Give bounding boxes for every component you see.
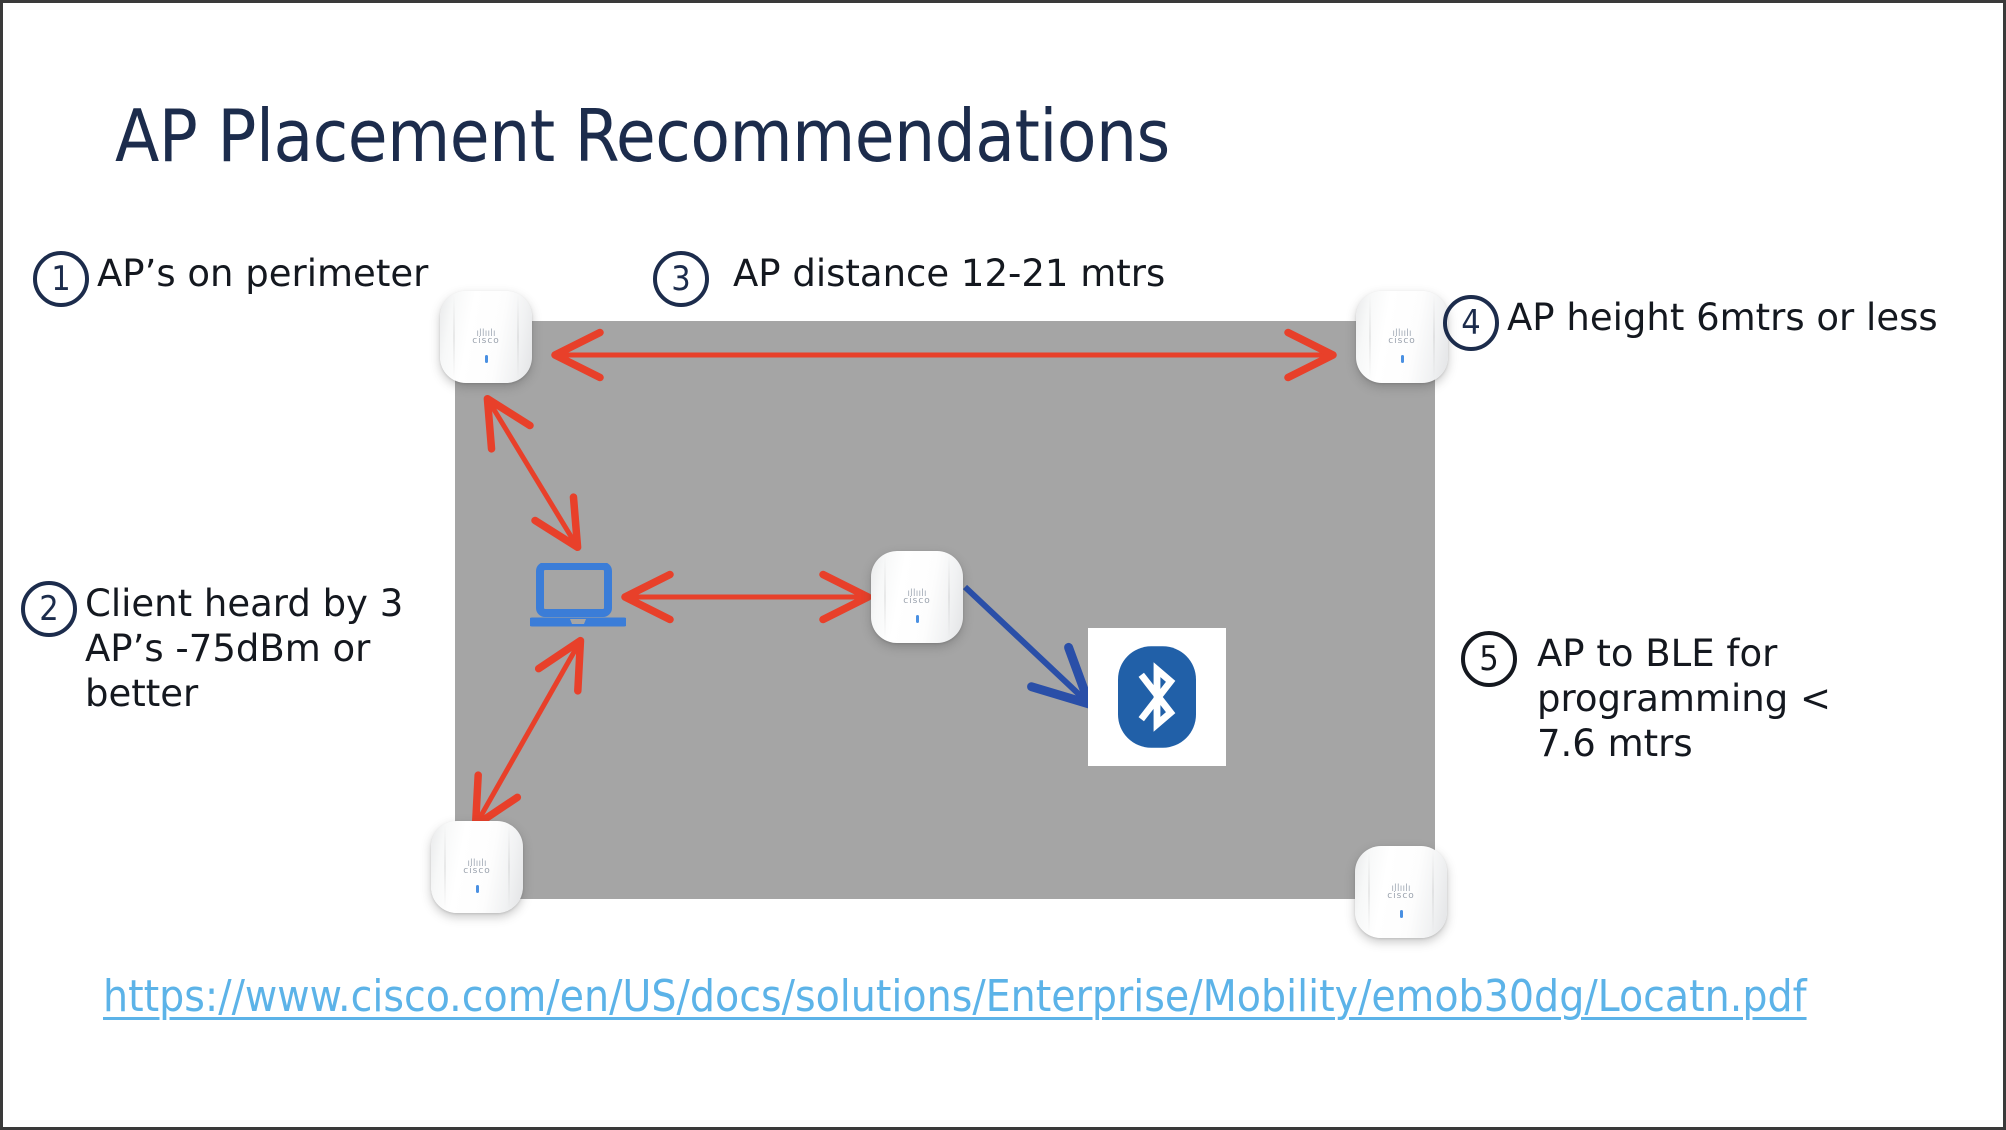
ap-status-led-icon (485, 355, 488, 363)
cisco-logo-icon: ıllıılı cisco (871, 591, 963, 607)
access-point-bottom-left[interactable]: ıllıılı cisco (431, 821, 523, 913)
callout-label-2: Client heard by 3 AP’s -75dBm or better (85, 581, 425, 716)
ap-chassis: ıllıılı cisco (1355, 846, 1447, 938)
ap-brand-label: cisco (472, 336, 500, 346)
callout-badge-3: 3 (653, 251, 709, 307)
ap-chassis: ıllıılı cisco (1356, 291, 1448, 383)
cisco-logo-icon: ıllıılı cisco (1355, 886, 1447, 902)
callout-badge-5: 5 (1461, 631, 1517, 687)
cisco-logo-icon: ıllıılı cisco (431, 861, 523, 877)
page-title: AP Placement Recommendations (115, 99, 1170, 175)
cisco-logo-icon: ıllıılı cisco (440, 331, 532, 347)
callout-label-4: AP height 6mtrs or less (1507, 295, 1938, 340)
ap-brand-label: cisco (463, 866, 491, 876)
ap-status-led-icon (1400, 910, 1403, 918)
callout-badge-2: 2 (21, 581, 77, 637)
bluetooth-icon (1118, 646, 1196, 748)
ble-beacon[interactable] (1088, 628, 1226, 766)
callout-label-3: AP distance 12-21 mtrs (733, 251, 1165, 296)
callout-badge-1: 1 (33, 251, 89, 307)
ap-chassis: ıllıılı cisco (431, 821, 523, 913)
laptop-client[interactable] (530, 563, 626, 631)
callout-4: 4 AP height 6mtrs or less (1443, 295, 1938, 351)
ap-status-led-icon (476, 885, 479, 893)
ap-chassis: ıllıılı cisco (440, 291, 532, 383)
access-point-top-right[interactable]: ıllıılı cisco (1356, 291, 1448, 383)
ap-status-led-icon (916, 615, 919, 623)
slide-canvas: AP Placement Recommendations (0, 0, 2006, 1130)
callout-1: 1 AP’s on perimeter (33, 251, 428, 307)
access-point-top-left[interactable]: ıllıılı cisco (440, 291, 532, 383)
ap-brand-label: cisco (1387, 891, 1415, 901)
laptop-icon (530, 563, 626, 631)
callout-2: 2 Client heard by 3 AP’s -75dBm or bette… (21, 581, 451, 716)
access-point-bottom-right[interactable]: ıllıılı cisco (1355, 846, 1447, 938)
callout-5: 5 AP to BLE for programming < 7.6 mtrs (1461, 631, 1881, 766)
ap-brand-label: cisco (903, 596, 931, 606)
ap-status-led-icon (1401, 355, 1404, 363)
callout-label-1: AP’s on perimeter (97, 251, 428, 296)
access-point-center[interactable]: ıllıılı cisco (871, 551, 963, 643)
cisco-logo-icon: ıllıılı cisco (1356, 331, 1448, 347)
ap-brand-label: cisco (1388, 336, 1416, 346)
callout-label-5: AP to BLE for programming < 7.6 mtrs (1537, 631, 1867, 766)
source-link[interactable]: https://www.cisco.com/en/US/docs/solutio… (103, 971, 1807, 1022)
callout-badge-4: 4 (1443, 295, 1499, 351)
callout-3: 3 AP distance 12-21 mtrs (653, 251, 1165, 307)
ap-chassis: ıllıılı cisco (871, 551, 963, 643)
